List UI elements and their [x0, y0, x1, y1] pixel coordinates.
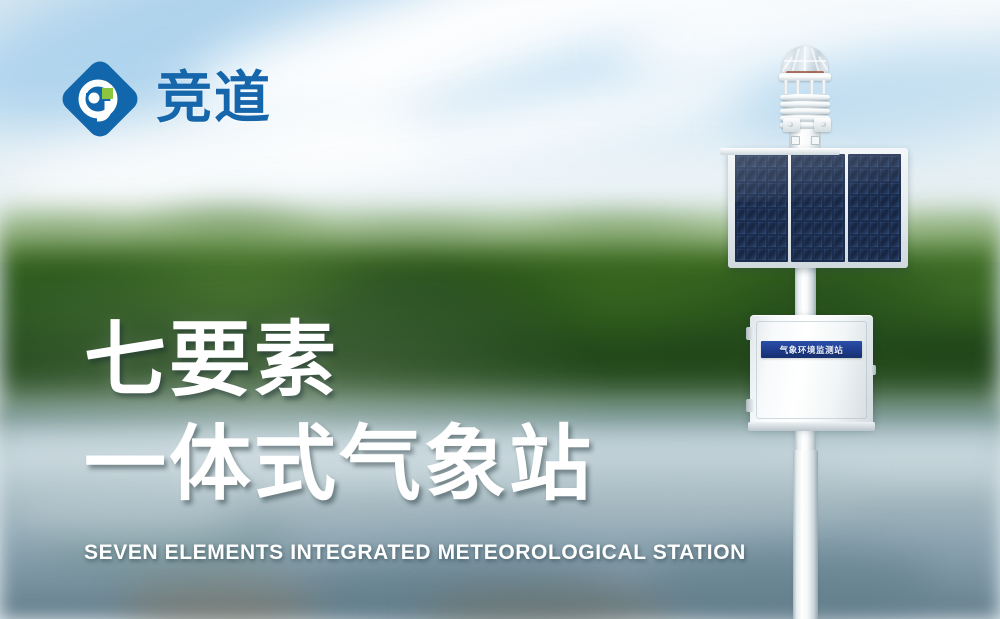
control-box-hinge: [746, 327, 754, 340]
headline-line-1: 七要素: [84, 312, 704, 410]
mounting-bracket-icon: [783, 118, 831, 134]
control-box-base: [748, 422, 875, 431]
control-box-hinge: [746, 399, 754, 412]
mounting-pole-lower: [793, 450, 818, 619]
control-box-seam: [756, 321, 867, 419]
solar-panel-icon: [728, 148, 908, 268]
headline-subtitle: SEVEN ELEMENTS INTEGRATED METEOROLOGICAL…: [84, 541, 746, 565]
solar-panel-mount-bar: [720, 148, 840, 155]
brand-logo: 竞道: [58, 57, 272, 141]
sensor-head: [774, 46, 836, 156]
product-banner: 竞道 七要素 一体式气象站 SEVEN ELEMENTS INTEGRATED …: [0, 0, 1000, 619]
headline-block: 七要素 一体式气象站: [84, 312, 704, 514]
control-box: 气象环境监测站: [750, 315, 873, 425]
brand-name: 竞道: [156, 71, 272, 127]
weather-station-product: 气象环境监测站: [690, 30, 1000, 619]
control-box-latch: [870, 365, 876, 375]
jingdao-diamond-logo-icon: [58, 57, 142, 141]
control-box-label: 气象环境监测站: [761, 341, 862, 358]
headline-line-2: 一体式气象站: [84, 416, 704, 514]
